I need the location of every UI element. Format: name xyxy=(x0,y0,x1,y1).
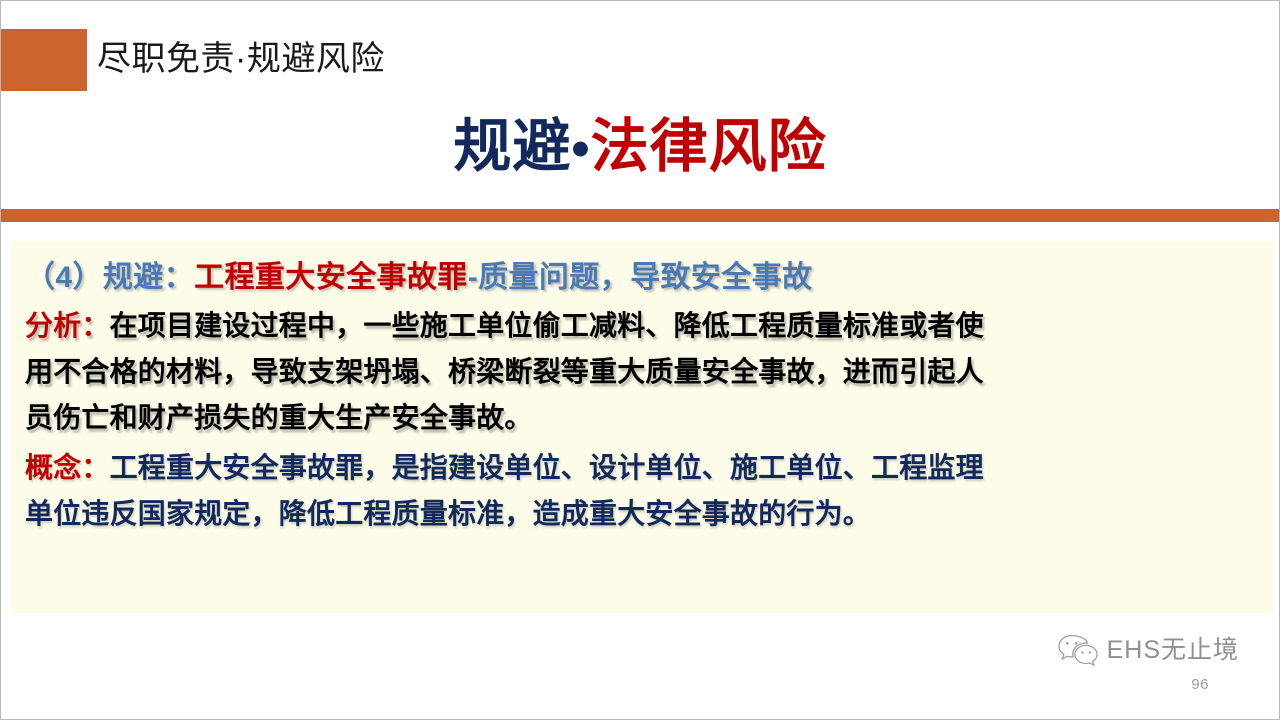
panel-heading-emphasis: 工程重大安全事故罪 xyxy=(194,261,468,294)
slide: 尽职免责·规避风险 规避•法律风险 （4）规避：工程重大安全事故罪-质量问题，导… xyxy=(0,0,1280,720)
header-title: 尽职免责·规避风险 xyxy=(97,33,385,85)
analysis-line-1: 分析：在项目建设过程中，一些施工单位偷工减料、降低工程质量标准或者使 xyxy=(25,303,1259,349)
watermark: EHS无止境 xyxy=(1057,633,1239,667)
concept-block: 概念：工程重大安全事故罪，是指建设单位、设计单位、施工单位、工程监理 单位违反国… xyxy=(25,445,1259,537)
panel-heading-prefix: （4）规避： xyxy=(25,261,194,294)
watermark-text: EHS无止境 xyxy=(1107,635,1239,665)
page-title-red-part: 法律风险 xyxy=(591,114,827,179)
page-title-navy-part: 规避 xyxy=(453,114,571,179)
concept-line-1: 概念：工程重大安全事故罪，是指建设单位、设计单位、施工单位、工程监理 xyxy=(25,445,1259,491)
analysis-line-2: 用不合格的材料，导致支架坍塌、桥梁断裂等重大质量安全事故，进而引起人 xyxy=(25,349,1259,395)
analysis-label: 分析： xyxy=(25,310,110,341)
page-title-separator: • xyxy=(571,120,590,178)
analysis-block: 分析：在项目建设过程中，一些施工单位偷工减料、降低工程质量标准或者使 用不合格的… xyxy=(25,303,1259,441)
page-title: 规避•法律风险 xyxy=(1,105,1279,191)
concept-label: 概念： xyxy=(25,452,110,483)
analysis-line-3: 员伤亡和财产损失的重大生产安全事故。 xyxy=(25,395,1259,441)
slide-header: 尽职免责·规避风险 xyxy=(1,29,1279,91)
header-accent-block xyxy=(1,29,87,91)
divider-bar xyxy=(1,209,1279,222)
concept-text-line-2: 单位违反国家规定，降低工程质量标准，造成重大安全事故的行为。 xyxy=(25,498,871,529)
content-panel: （4）规避：工程重大安全事故罪-质量问题，导致安全事故 分析：在项目建设过程中，… xyxy=(11,241,1273,613)
analysis-text-line-2: 用不合格的材料，导致支架坍塌、桥梁断裂等重大质量安全事故，进而引起人 xyxy=(25,356,984,387)
wechat-icon xyxy=(1057,633,1099,667)
panel-heading-suffix: -质量问题，导致安全事故 xyxy=(468,261,813,294)
panel-heading: （4）规避：工程重大安全事故罪-质量问题，导致安全事故 xyxy=(25,255,1259,301)
analysis-text-line-3: 员伤亡和财产损失的重大生产安全事故。 xyxy=(25,402,533,433)
concept-line-2: 单位违反国家规定，降低工程质量标准，造成重大安全事故的行为。 xyxy=(25,491,1259,537)
concept-text-line-1: 工程重大安全事故罪，是指建设单位、设计单位、施工单位、工程监理 xyxy=(110,452,984,483)
page-number: 96 xyxy=(1191,676,1209,693)
analysis-text-line-1: 在项目建设过程中，一些施工单位偷工减料、降低工程质量标准或者使 xyxy=(110,310,984,341)
